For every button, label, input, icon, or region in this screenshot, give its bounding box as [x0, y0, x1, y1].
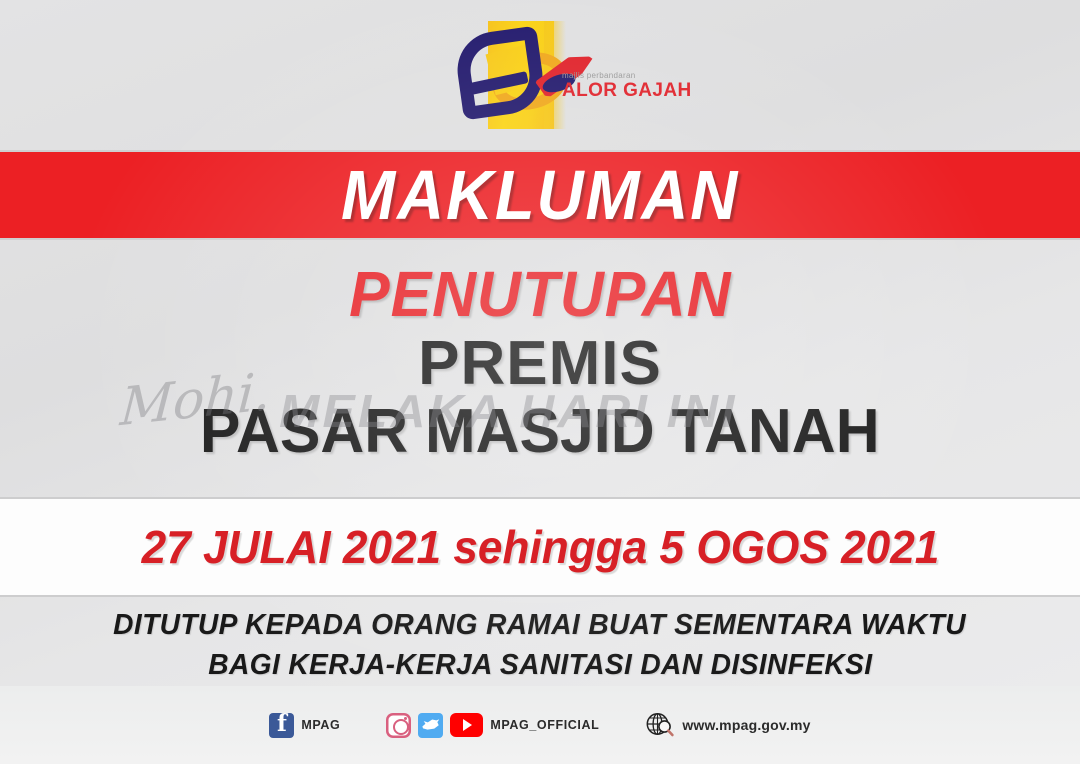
facebook-contact[interactable]: MPAG [269, 713, 340, 738]
facebook-icon[interactable] [269, 713, 294, 738]
logo-area: majlis perbandaran ALOR GAJAH [0, 0, 1080, 150]
subtitle-line-1: DITUTUP KEPADA ORANG RAMAI BUAT SEMENTAR… [114, 605, 967, 645]
headline-line-1: PENUTUPAN [349, 262, 731, 327]
alor-gajah-crest-icon: majlis perbandaran ALOR GAJAH [450, 19, 630, 131]
notice-poster: majlis perbandaran ALOR GAJAH MAKLUMAN P… [0, 0, 1080, 764]
date-range-text: 27 JULAI 2021 sehingga 5 OGOS 2021 [141, 524, 939, 570]
logo-name: ALOR GAJAH [562, 81, 682, 100]
date-band: 27 JULAI 2021 sehingga 5 OGOS 2021 [0, 497, 1080, 597]
website-contact[interactable]: www.mpag.gov.my [645, 711, 810, 739]
globe-search-icon[interactable] [645, 711, 675, 739]
announcement-banner: MAKLUMAN [0, 150, 1080, 240]
subtitle-block: DITUTUP KEPADA ORANG RAMAI BUAT SEMENTAR… [0, 605, 1080, 685]
banner-title: MAKLUMAN [341, 160, 739, 230]
social-handle: MPAG_OFFICIAL [490, 718, 599, 732]
footer-contacts: MPAG MPAG_OFFICIAL [269, 711, 810, 739]
youtube-icon[interactable] [450, 713, 483, 737]
logo-subtitle: majlis perbandaran [562, 71, 682, 80]
facebook-handle: MPAG [301, 718, 340, 732]
headline-line-3: PASAR MASJID TANAH [200, 399, 880, 465]
footer-bar: MPAG MPAG_OFFICIAL [0, 686, 1080, 764]
website-url: www.mpag.gov.my [682, 717, 810, 733]
social-contact[interactable]: MPAG_OFFICIAL [386, 713, 599, 738]
headline-block: PENUTUPAN PREMIS PASAR MASJID TANAH [0, 248, 1080, 496]
instagram-icon[interactable] [386, 713, 411, 738]
twitter-icon[interactable] [418, 713, 443, 738]
logo-text: majlis perbandaran ALOR GAJAH [562, 71, 682, 100]
subtitle-line-2: BAGI KERJA-KERJA SANITASI DAN DISINFEKSI [208, 645, 872, 685]
headline-line-2: PREMIS [418, 331, 662, 397]
